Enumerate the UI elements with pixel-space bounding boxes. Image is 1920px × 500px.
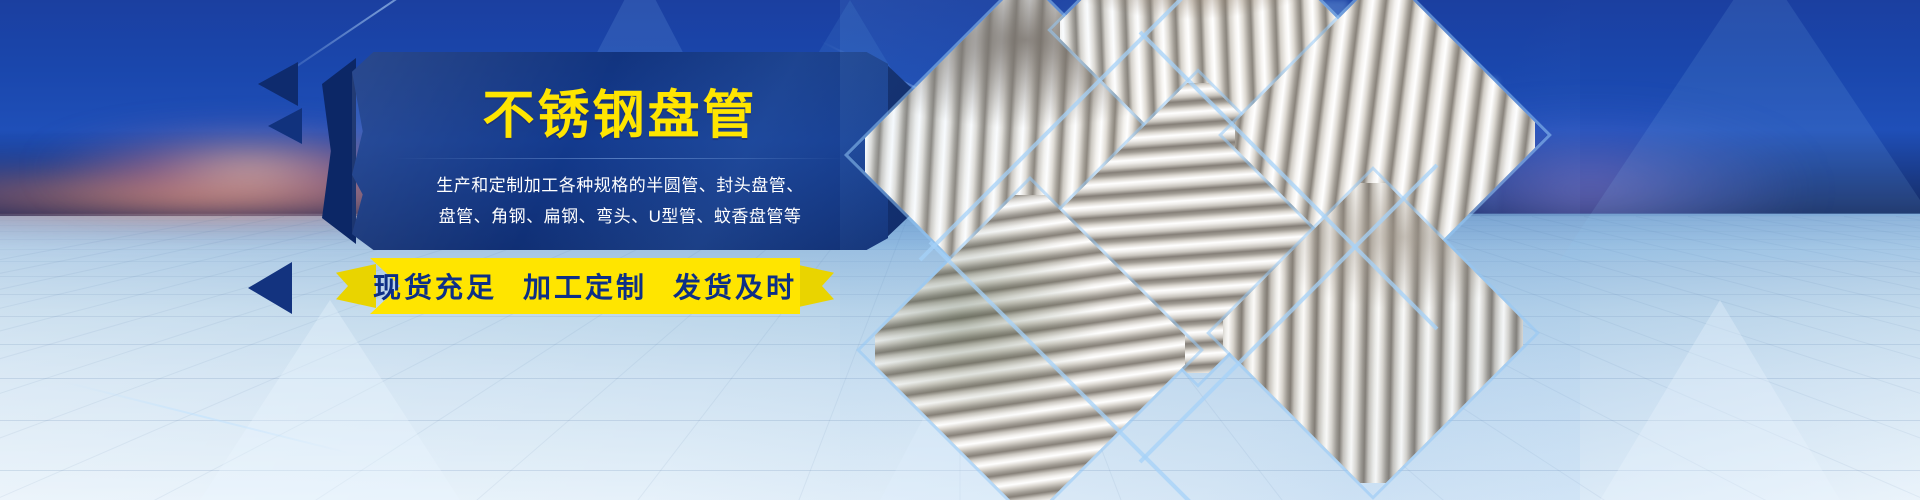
chevron-left-icon xyxy=(258,62,298,106)
page-title: 不锈钢盘管 xyxy=(352,90,888,142)
product-photo-collage xyxy=(840,0,1580,500)
chevron-left-icon xyxy=(248,262,292,314)
glass-triangle-icon xyxy=(1600,300,1840,500)
slogan-item-1: 现货充足 xyxy=(373,266,497,306)
slogan-item-3: 发货及时 xyxy=(673,266,797,306)
slogan-item-2: 加工定制 xyxy=(523,266,647,306)
chevron-left-icon xyxy=(268,108,302,144)
headline-ribbon: 不锈钢盘管 生产和定制加工各种规格的半圆管、封头盘管、 盘管、角钢、扁钢、弯头、… xyxy=(352,52,888,250)
subtitle-line-2: 盘管、角钢、扁钢、弯头、U型管、蚊香盘管等 xyxy=(376,201,864,232)
ribbon-divider xyxy=(394,158,846,159)
promo-banner: 不锈钢盘管 生产和定制加工各种规格的半圆管、封头盘管、 盘管、角钢、扁钢、弯头、… xyxy=(0,0,1920,500)
glass-triangle-icon xyxy=(1560,0,1920,260)
slogan-text: 现货充足 加工定制 发货及时 xyxy=(370,258,800,314)
subtitle-line-1: 生产和定制加工各种规格的半圆管、封头盘管、 xyxy=(376,170,864,201)
glass-triangle-icon xyxy=(200,300,460,500)
slogan-ribbon: 现货充足 加工定制 发货及时 xyxy=(370,258,800,314)
subtitle: 生产和定制加工各种规格的半圆管、封头盘管、 盘管、角钢、扁钢、弯头、U型管、蚊香… xyxy=(376,170,864,232)
